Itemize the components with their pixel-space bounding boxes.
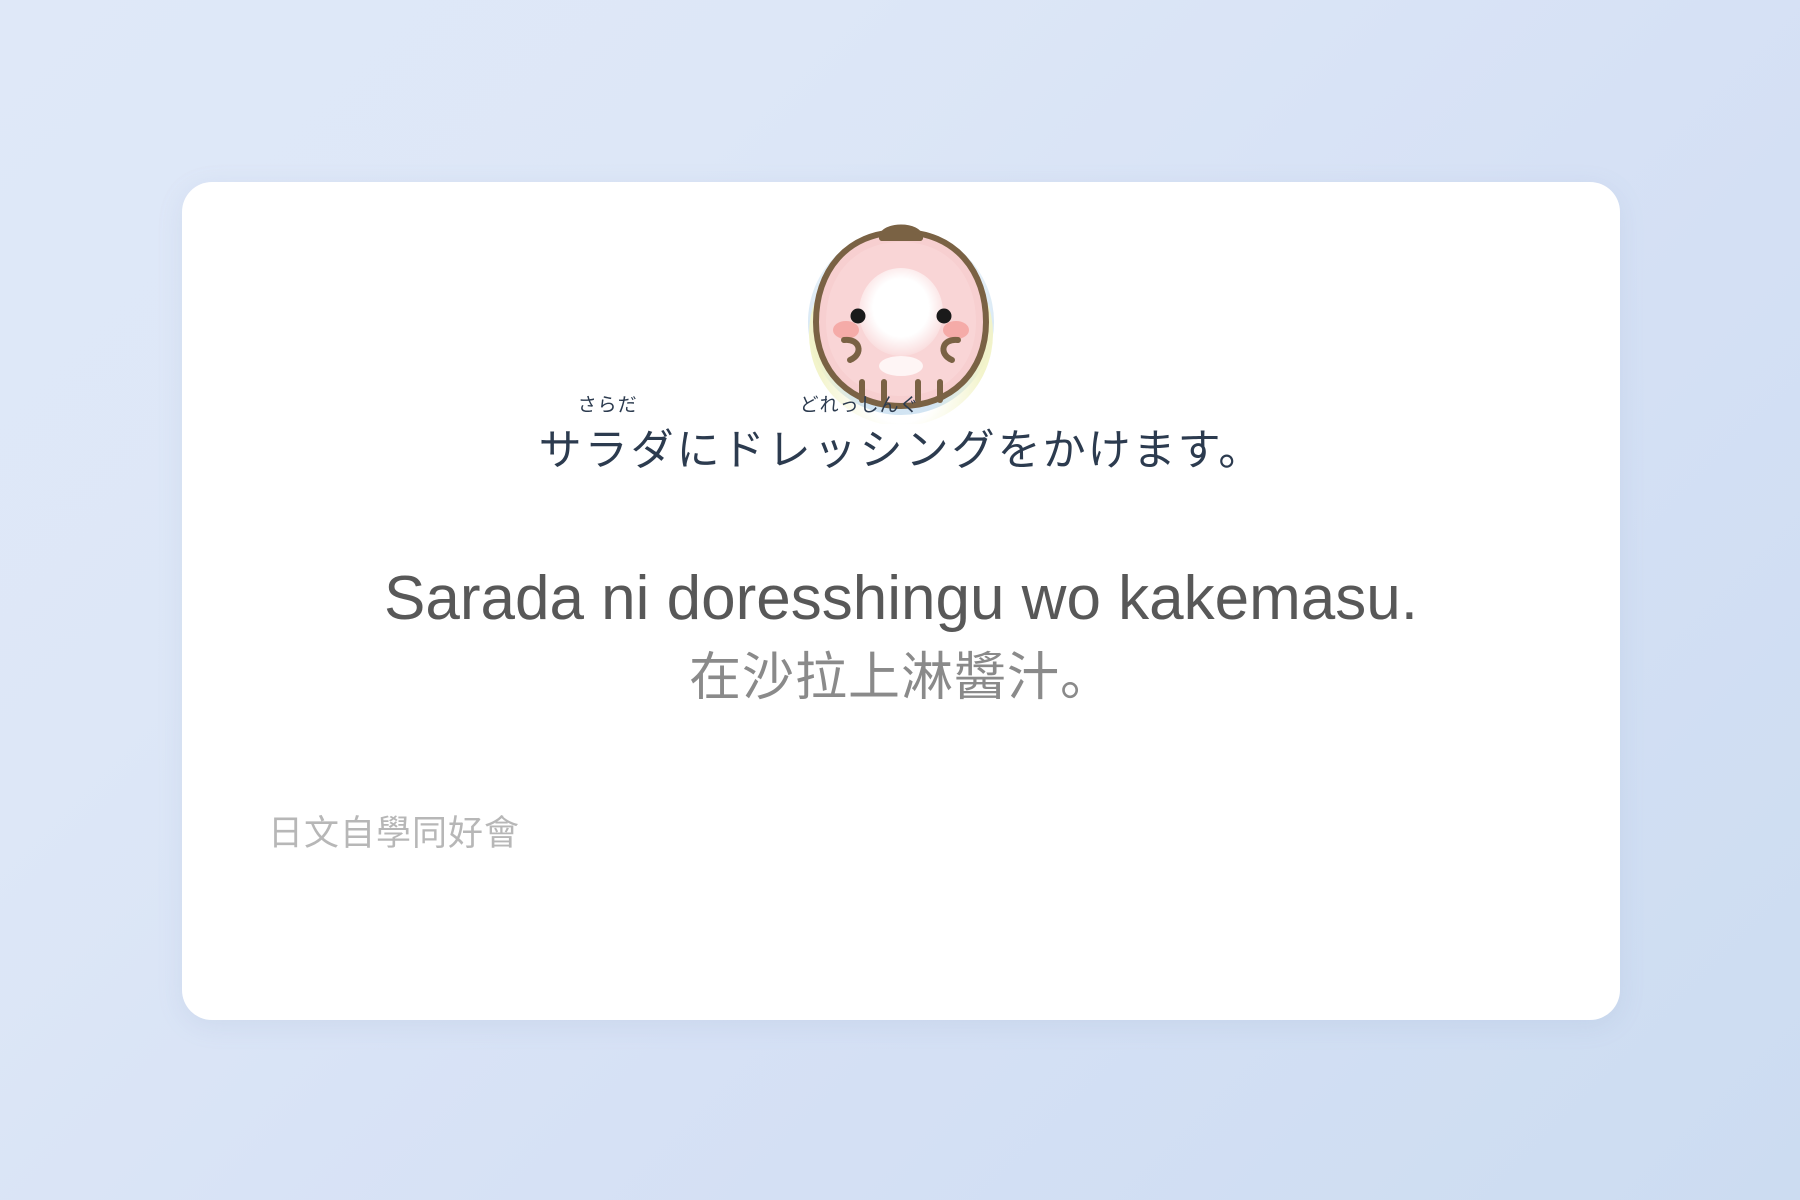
ruby-group-sarada: さらだ サラダ <box>539 430 677 473</box>
japanese-sentence: さらだ サラダ に どれっしんぐ ドレッシング をかけます。 <box>182 430 1620 473</box>
ruby-group-doresshingu: どれっしんぐ ドレッシング <box>722 430 998 473</box>
translation-line: 在沙拉上淋醬汁。 <box>182 652 1620 704</box>
cheek-right <box>943 321 969 339</box>
furigana-sarada: さらだ <box>578 396 638 415</box>
mascot-illustration <box>796 214 1006 424</box>
kana-sarada: サラダ <box>539 430 677 473</box>
cheek-left <box>833 321 859 339</box>
flashcard: さらだ サラダ に どれっしんぐ ドレッシング をかけます。 Sarada ni… <box>182 182 1620 1020</box>
eye-left <box>851 309 866 324</box>
particle-ni: に <box>677 430 722 473</box>
pink-round-mascot-icon <box>796 214 1006 424</box>
furigana-doresshingu: どれっしんぐ <box>800 396 920 415</box>
predicate-wo-kakemasu: をかけます。 <box>998 430 1264 473</box>
page-root: さらだ サラダ に どれっしんぐ ドレッシング をかけます。 Sarada ni… <box>0 0 1800 1200</box>
kana-doresshingu: ドレッシング <box>722 430 998 473</box>
romaji-line: Sarada ni doresshingu wo kakemasu. <box>182 568 1620 630</box>
footer-credit: 日文自學同好會 <box>268 816 520 851</box>
eye-right <box>937 309 952 324</box>
